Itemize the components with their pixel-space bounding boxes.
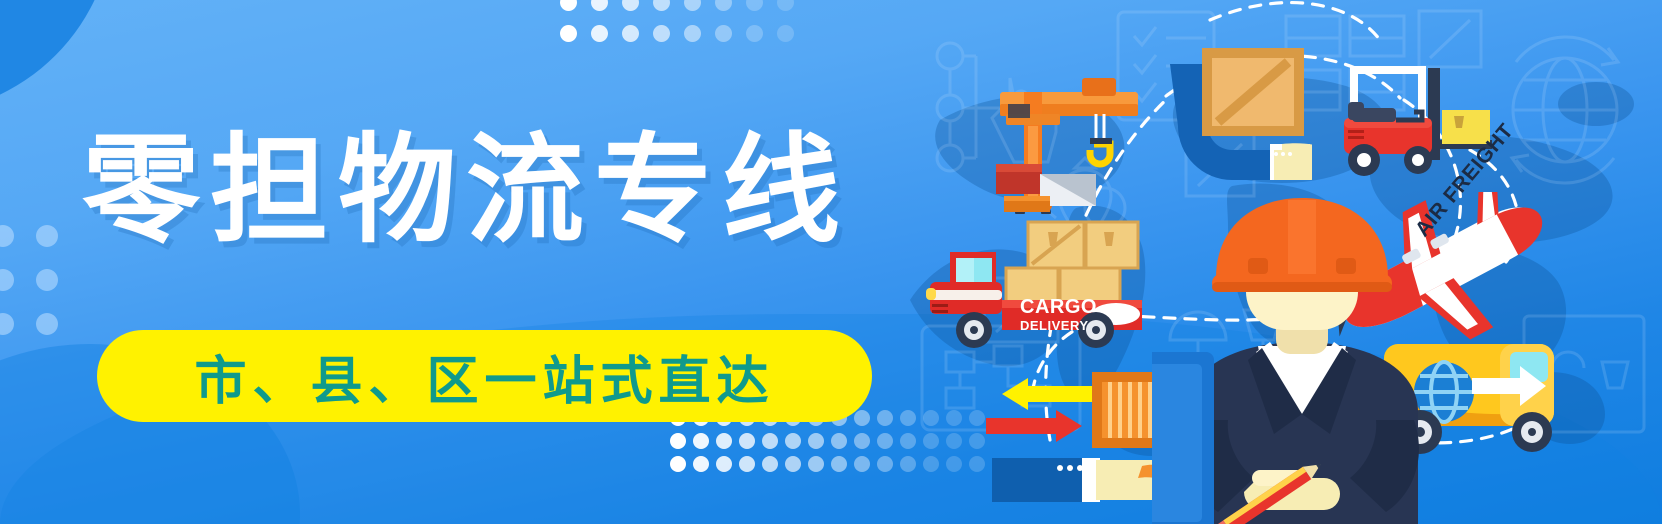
truck-label-line2: DELIVERY xyxy=(1020,318,1089,333)
copy-block: 零担物流专线 市、县、区一站式直达 xyxy=(0,0,900,524)
tagline-pill[interactable]: 市、县、区一站式直达 xyxy=(97,330,872,422)
headline-title: 零担物流专线 xyxy=(82,131,850,249)
illustration-stage: AIR FREIGHT xyxy=(880,0,1662,524)
logistics-banner: 零担物流专线 市、县、区一站式直达 xyxy=(0,0,1662,524)
tagline-text: 市、县、区一站式直达 xyxy=(194,339,774,414)
truck-label-line1: CARGO xyxy=(1020,296,1097,319)
logistics-worker xyxy=(1152,182,1452,524)
stacked-crates-small xyxy=(996,152,1106,214)
wooden-crate-top xyxy=(1198,44,1308,140)
